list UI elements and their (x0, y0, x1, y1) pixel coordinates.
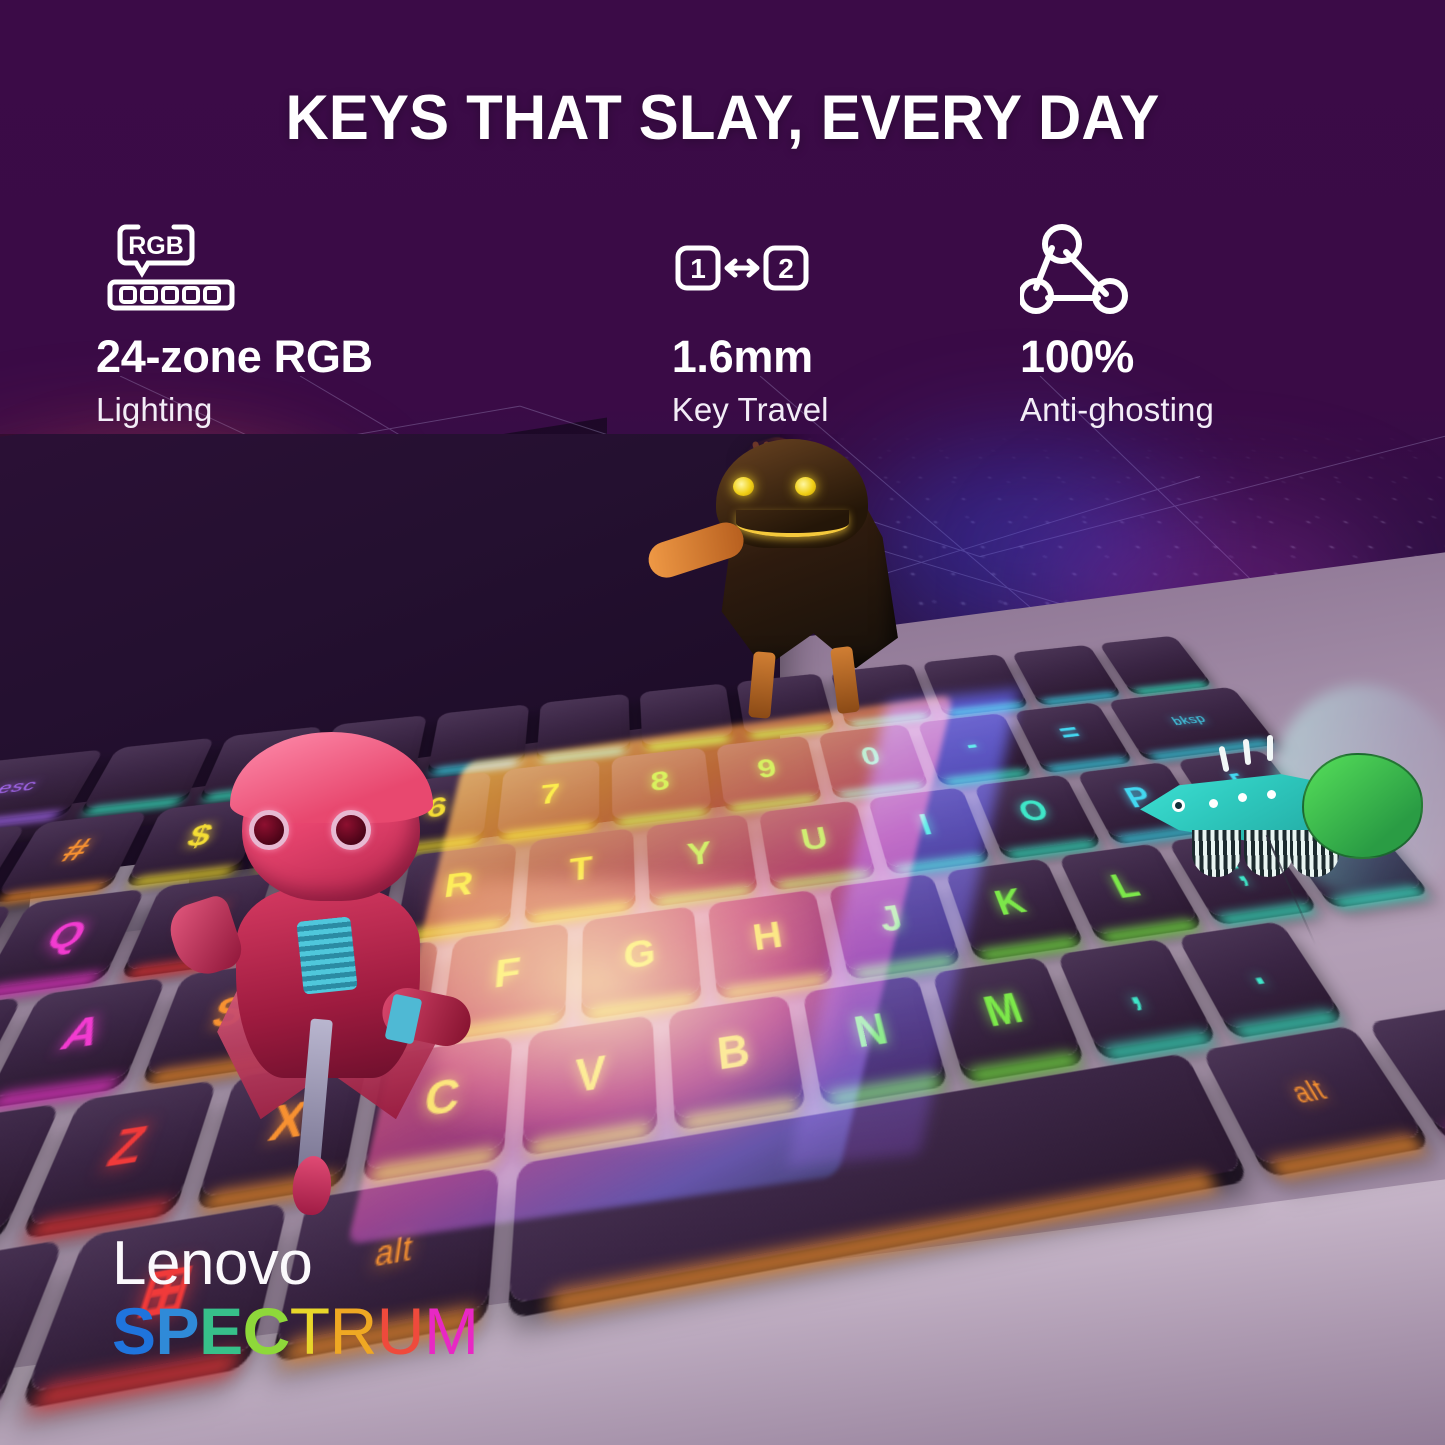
fish-head (1302, 753, 1423, 859)
spectrum-letter: E (199, 1297, 243, 1367)
key-legend: Q (39, 915, 95, 961)
key-legend: A (52, 1009, 109, 1063)
keyboard-key[interactable] (1099, 636, 1210, 691)
feature-key-travel: 1 2 1.6mm Key Travel (672, 222, 1020, 429)
poster-root: esc~#$%67890-=bksptabQWERTYUIOP[caps loc… (0, 0, 1445, 1445)
keyboard-key[interactable]: = (1014, 703, 1131, 769)
svg-text:1: 1 (690, 253, 706, 284)
keyboard-key[interactable] (1012, 645, 1120, 701)
spectrum-letter: C (243, 1297, 290, 1367)
keyboard-key[interactable]: Q (0, 889, 146, 990)
key-legend: # (55, 834, 97, 871)
fish-fin (1192, 830, 1241, 877)
spectrum-letter: P (156, 1297, 200, 1367)
keyboard-key[interactable]: A (0, 978, 167, 1099)
scientist-arm-left (163, 893, 246, 982)
rgb-keyboard-icon: RGB (96, 222, 672, 318)
fish-spine (1243, 738, 1252, 764)
svg-text:RGB: RGB (128, 232, 184, 260)
key-legend: K (990, 883, 1033, 925)
feature-subtitle: Lighting (96, 391, 672, 429)
feature-list: RGB 24-zone RGB Lighting 1 2 (0, 222, 1445, 429)
key-legend: alt (1285, 1073, 1334, 1112)
anti-ghosting-network-icon (1020, 222, 1349, 318)
key-travel-icon: 1 2 (672, 222, 1020, 318)
creature-grin (736, 510, 849, 537)
key-legend: Z (99, 1118, 154, 1183)
feature-title: 1.6mm (672, 334, 1020, 379)
creature-eye-right (795, 477, 816, 496)
spectrum-letter: R (330, 1297, 377, 1367)
fish-spine (1267, 735, 1273, 761)
feature-title: 24-zone RGB (96, 334, 672, 379)
keyboard-key[interactable]: # (0, 811, 148, 896)
key-legend: . (1237, 950, 1275, 996)
spectrum-wordmark: SPECTRUM (112, 1297, 478, 1367)
spectrum-letter: U (377, 1297, 424, 1367)
spectrum-letter: T (290, 1297, 330, 1367)
feature-anti-ghosting: 100% Anti-ghosting (1020, 222, 1349, 429)
page-headline: KEYS THAT SLAY, EVERY DAY (36, 82, 1409, 154)
feature-subtitle: Key Travel (672, 391, 1020, 429)
scientist-helmet (230, 732, 433, 823)
svg-text:2: 2 (778, 253, 794, 284)
key-legend: M (979, 986, 1031, 1039)
key-legend: , (1116, 969, 1150, 1016)
key-legend: = (1054, 720, 1087, 749)
dark-hooded-creature-character (672, 434, 918, 707)
feature-title: 100% (1020, 334, 1349, 379)
key-legend: O (1014, 795, 1056, 830)
fish-spine (1218, 746, 1229, 773)
key-legend: esc (0, 776, 42, 799)
teal-fish-creature-character (1134, 717, 1423, 899)
scientist-goggle-left (249, 810, 289, 850)
lenovo-wordmark: Lenovo (112, 1233, 478, 1295)
scientist-goggle-right (331, 810, 371, 850)
feature-subtitle: Anti-ghosting (1020, 391, 1349, 429)
feature-rgb-lighting: RGB 24-zone RGB Lighting (96, 222, 672, 429)
spectrum-letter: S (112, 1297, 156, 1367)
fish-spot (1267, 790, 1276, 799)
pink-scientist-character (166, 737, 484, 1192)
brand-logo: Lenovo SPECTRUM (112, 1233, 478, 1367)
spectrum-letter: M (424, 1297, 478, 1367)
fish-eye (1172, 799, 1185, 812)
keyboard-key[interactable]: esc (0, 750, 104, 828)
rgb-prism-glow (434, 879, 839, 1142)
scientist-scarf (296, 916, 357, 994)
